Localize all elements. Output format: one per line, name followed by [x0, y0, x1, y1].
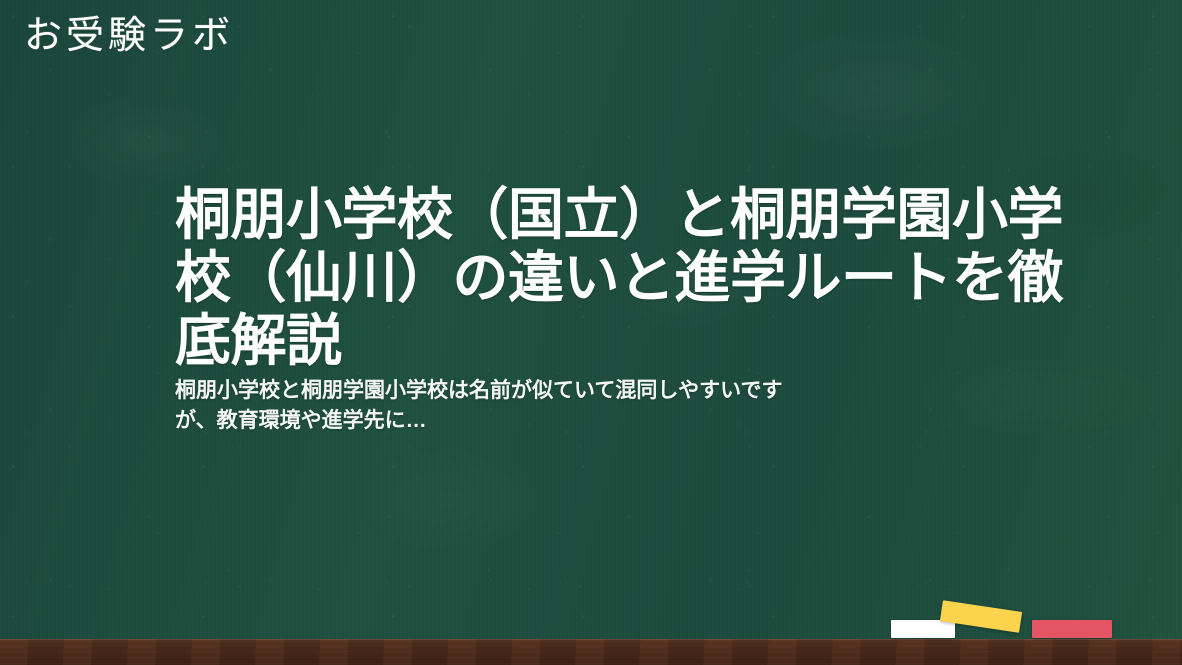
page-subtitle: 桐朋小学校と桐朋学園小学校は名前が似ていて混同しやすいですが、教育環境や進学先に… — [175, 376, 795, 436]
chalk-tray — [0, 639, 1182, 665]
brand-logo: お受験ラボ — [24, 12, 234, 58]
page-title: 桐朋小学校（国立）と桐朋学園小学校（仙川）の違いと進学ルートを徹底解説 — [175, 183, 1087, 372]
hero-text-block: 桐朋小学校（国立）と桐朋学園小学校（仙川）の違いと進学ルートを徹底解説 桐朋小学… — [175, 183, 1087, 436]
slide-canvas: お受験ラボ 桐朋小学校（国立）と桐朋学園小学校（仙川）の違いと進学ルートを徹底解… — [0, 0, 1182, 665]
wood-grain-texture — [0, 639, 1182, 665]
chalk-stick-white — [891, 620, 955, 638]
chalk-stick-red — [1032, 620, 1112, 638]
